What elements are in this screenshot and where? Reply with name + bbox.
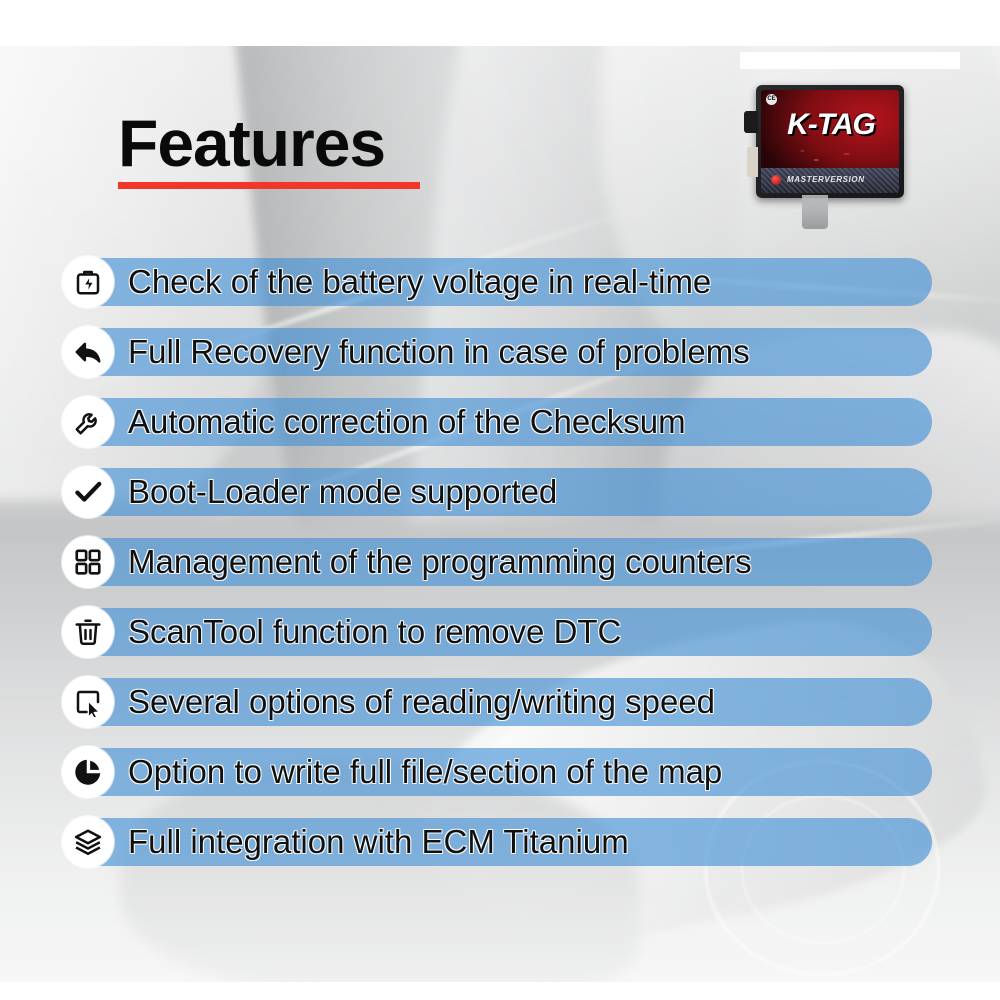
feature-label: Full Recovery function in case of proble…: [128, 328, 750, 376]
feature-row: Automatic correction of the Checksum: [0, 398, 1000, 446]
white-banner-strip: [740, 52, 960, 69]
feature-row: Option to write full file/section of the…: [0, 748, 1000, 796]
feature-row: Several options of reading/writing speed: [0, 678, 1000, 726]
grid-squares-icon: [62, 536, 114, 588]
device-cable: [802, 195, 828, 229]
feature-row: Full Recovery function in case of proble…: [0, 328, 1000, 376]
ce-mark-icon: CE: [766, 94, 777, 105]
feature-row: Boot-Loader mode supported: [0, 468, 1000, 516]
feature-label: Several options of reading/writing speed: [128, 678, 715, 726]
ktag-device-image: CE K-TAG MASTERVERSION: [756, 85, 904, 198]
feature-list: Check of the battery voltage in real-tim…: [0, 258, 1000, 888]
battery-icon: [62, 256, 114, 308]
feature-label: Management of the programming counters: [128, 538, 752, 586]
feature-label: Check of the battery voltage in real-tim…: [128, 258, 711, 306]
feature-label: Automatic correction of the Checksum: [128, 398, 686, 446]
ktag-logo-text: K-TAG: [769, 108, 893, 142]
layers-icon: [62, 816, 114, 868]
page-title: Features: [118, 110, 420, 176]
feature-row: Full integration with ECM Titanium: [0, 818, 1000, 866]
title-underline: [118, 182, 420, 189]
undo-arrow-icon: [62, 326, 114, 378]
feature-label: ScanTool function to remove DTC: [128, 608, 621, 656]
feature-label: Option to write full file/section of the…: [128, 748, 722, 796]
features-poster: Features CE K-TAG MASTERVERSION Check of…: [0, 0, 1000, 1000]
checkmark-icon: [62, 466, 114, 518]
page-title-block: Features: [118, 110, 420, 189]
feature-row: ScanTool function to remove DTC: [0, 608, 1000, 656]
feature-label: Boot-Loader mode supported: [128, 468, 557, 516]
feature-row: Check of the battery voltage in real-tim…: [0, 258, 1000, 306]
device-connector-left-lower: [747, 147, 758, 177]
pie-chart-icon: [62, 746, 114, 798]
feature-label: Full integration with ECM Titanium: [128, 818, 629, 866]
cursor-select-icon: [62, 676, 114, 728]
wrench-icon: [62, 396, 114, 448]
feature-row: Management of the programming counters: [0, 538, 1000, 586]
device-badge-strip: MASTERVERSION: [761, 168, 899, 193]
trash-icon: [62, 606, 114, 658]
device-badge-dot-icon: [771, 175, 781, 185]
masterversion-label: MASTERVERSION: [787, 175, 865, 184]
device-connector-left: [744, 111, 758, 133]
